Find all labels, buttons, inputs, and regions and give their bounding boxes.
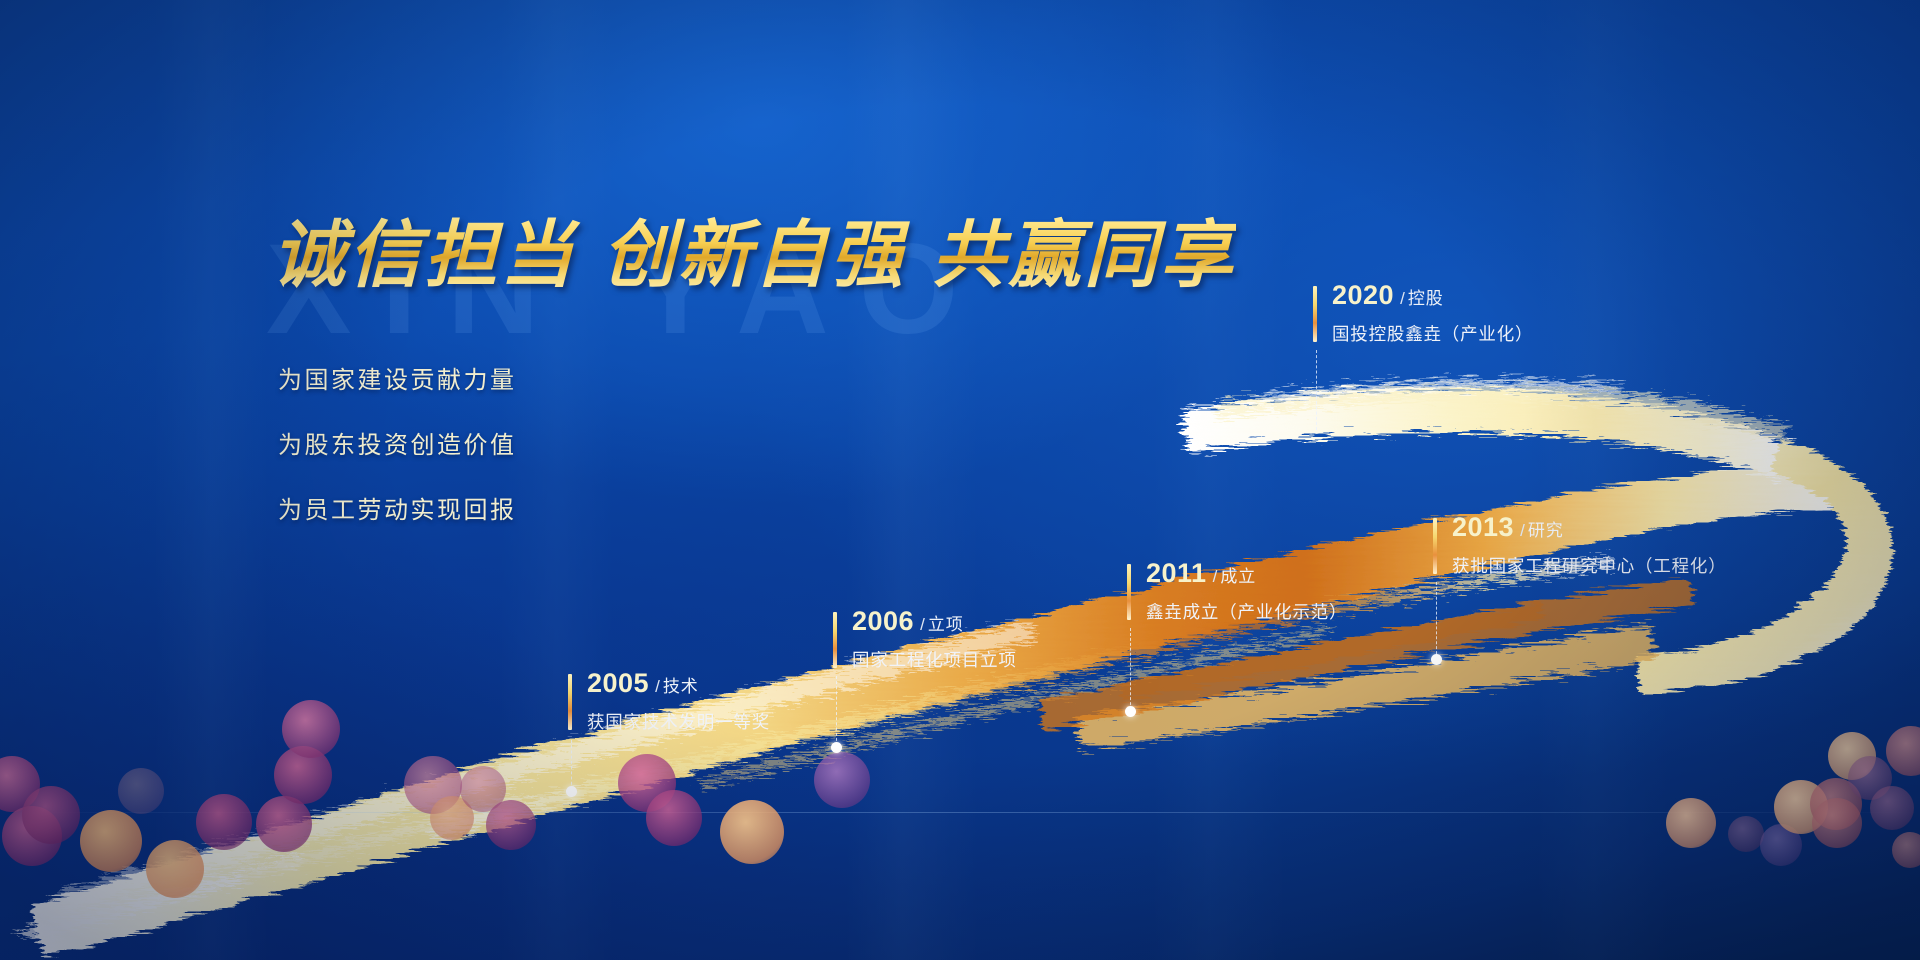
milestone-tag: 控股 <box>1408 289 1444 308</box>
timeline-dot <box>1125 706 1136 717</box>
milestone-tag: 技术 <box>663 677 699 696</box>
headline-part-2: 创新自强 <box>602 215 906 296</box>
milestone-heading: 2020/控股 <box>1332 282 1533 309</box>
milestone-accent-bar <box>1433 518 1437 574</box>
page-title: 诚信担当创新自强共赢同享 <box>272 196 1236 302</box>
milestone-separator: / <box>914 615 928 634</box>
milestone-accent-bar <box>1127 564 1131 620</box>
milestone-separator: / <box>1394 289 1408 308</box>
timeline-connector <box>836 676 837 746</box>
milestone-heading: 2011/成立 <box>1146 560 1347 587</box>
milestone-description: 鑫垚成立（产业化示范） <box>1146 599 1347 624</box>
milestone-year: 2020 <box>1332 280 1394 310</box>
milestone-separator: / <box>649 677 663 696</box>
milestone-2013[interactable]: 2013/研究 获批国家工程研究中心（工程化） <box>1433 514 1727 578</box>
milestone-description: 国投控股鑫垚（产业化） <box>1332 321 1533 346</box>
milestone-2005[interactable]: 2005/技术 获国家技术发明一等奖 <box>568 670 770 734</box>
milestone-2020[interactable]: 2020/控股 国投控股鑫垚（产业化） <box>1313 282 1533 346</box>
timeline-dot <box>566 786 577 797</box>
milestone-year: 2011 <box>1146 558 1207 588</box>
slogan-item: 为员工劳动实现回报 <box>278 490 698 525</box>
headline-part-1: 诚信担当 <box>272 215 576 296</box>
milestone-separator: / <box>1514 521 1528 540</box>
timeline-connector <box>1130 628 1131 710</box>
milestone-body: 2011/成立 鑫垚成立（产业化示范） <box>1146 560 1347 624</box>
timeline-connector <box>1436 582 1437 659</box>
poster-canvas: XIN YAO 诚信担当创新自强共赢同享 为国家建设贡献力量 为股东投资创造价值… <box>0 0 1920 960</box>
milestone-body: 2005/技术 获国家技术发明一等奖 <box>587 670 770 734</box>
timeline-dot <box>1431 654 1442 665</box>
milestone-tag: 立项 <box>928 615 964 634</box>
milestone-tag: 成立 <box>1220 567 1256 586</box>
milestone-body: 2006/立项 国家工程化项目立项 <box>852 608 1017 672</box>
timeline-connector <box>1316 350 1317 430</box>
slogan-item: 为股东投资创造价值 <box>278 425 698 460</box>
milestone-2006[interactable]: 2006/立项 国家工程化项目立项 <box>833 608 1017 672</box>
timeline-dot <box>831 742 842 753</box>
milestone-heading: 2006/立项 <box>852 608 1017 635</box>
milestone-heading: 2005/技术 <box>587 670 770 697</box>
milestone-accent-bar <box>568 674 572 730</box>
timeline-connector <box>571 740 572 790</box>
milestone-accent-bar <box>833 612 837 668</box>
milestone-accent-bar <box>1313 286 1317 342</box>
milestone-separator: / <box>1207 567 1221 586</box>
milestone-description: 获国家技术发明一等奖 <box>587 709 770 734</box>
milestone-description: 获批国家工程研究中心（工程化） <box>1452 553 1727 578</box>
milestone-2011[interactable]: 2011/成立 鑫垚成立（产业化示范） <box>1127 560 1347 624</box>
headline-part-3: 共赢同享 <box>932 215 1236 296</box>
milestone-description: 国家工程化项目立项 <box>852 647 1017 672</box>
milestone-year: 2006 <box>852 606 914 636</box>
milestone-body: 2020/控股 国投控股鑫垚（产业化） <box>1332 282 1533 346</box>
slogan-item: 为国家建设贡献力量 <box>278 360 698 395</box>
milestone-year: 2013 <box>1452 512 1514 542</box>
milestone-heading: 2013/研究 <box>1452 514 1727 541</box>
horizon-band <box>0 812 1920 813</box>
slogan-list: 为国家建设贡献力量 为股东投资创造价值 为员工劳动实现回报 <box>278 360 698 555</box>
milestone-body: 2013/研究 获批国家工程研究中心（工程化） <box>1452 514 1727 578</box>
milestone-tag: 研究 <box>1528 521 1564 540</box>
milestone-year: 2005 <box>587 668 649 698</box>
